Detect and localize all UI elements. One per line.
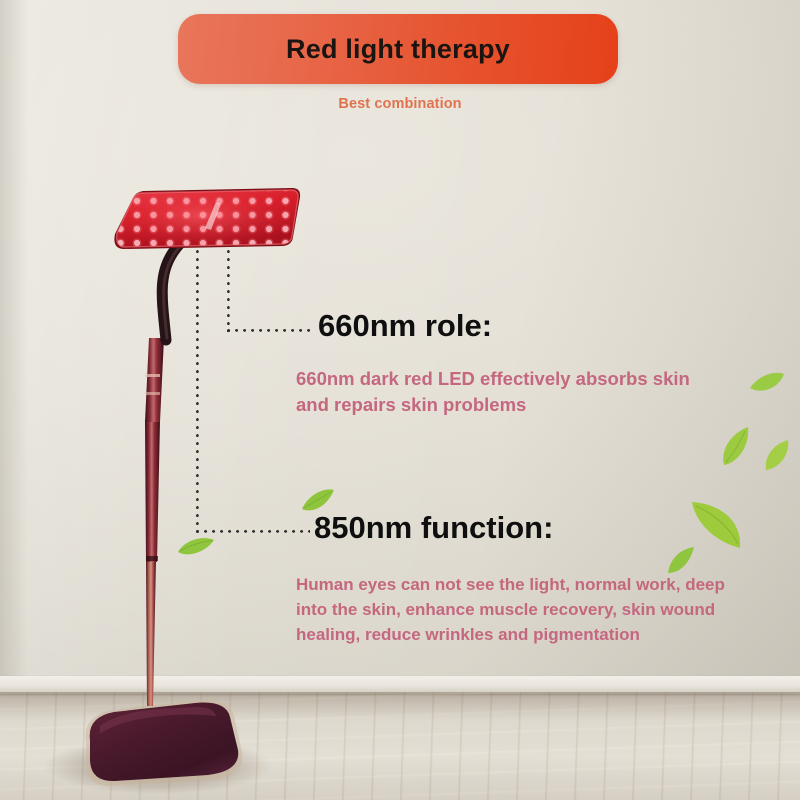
- gooseneck-arm: [162, 237, 200, 340]
- lamp-pole-mid: [145, 420, 160, 562]
- section-heading-660: 660nm role:: [318, 308, 492, 344]
- leaf-icon: [688, 498, 744, 550]
- leaf-icon: [762, 438, 792, 472]
- leaf-icon: [748, 370, 786, 394]
- section-body-660: 660nm dark red LED effectively absorbs s…: [296, 366, 726, 419]
- leaf-icon: [666, 545, 700, 575]
- pole-joint-ring-lower: [145, 392, 160, 395]
- pole-joint-ring-upper: [145, 374, 160, 377]
- pole-collar: [146, 556, 158, 561]
- section-heading-850: 850nm function:: [314, 510, 553, 546]
- section-body-850: Human eyes can not see the light, normal…: [296, 572, 736, 647]
- leaf-icon: [176, 536, 216, 558]
- lamp-pole-upper: [145, 338, 164, 422]
- lamp-pole-lower: [146, 560, 156, 706]
- leaf-icon: [718, 425, 752, 467]
- product-infographic: Red light therapy Best combination: [0, 0, 800, 800]
